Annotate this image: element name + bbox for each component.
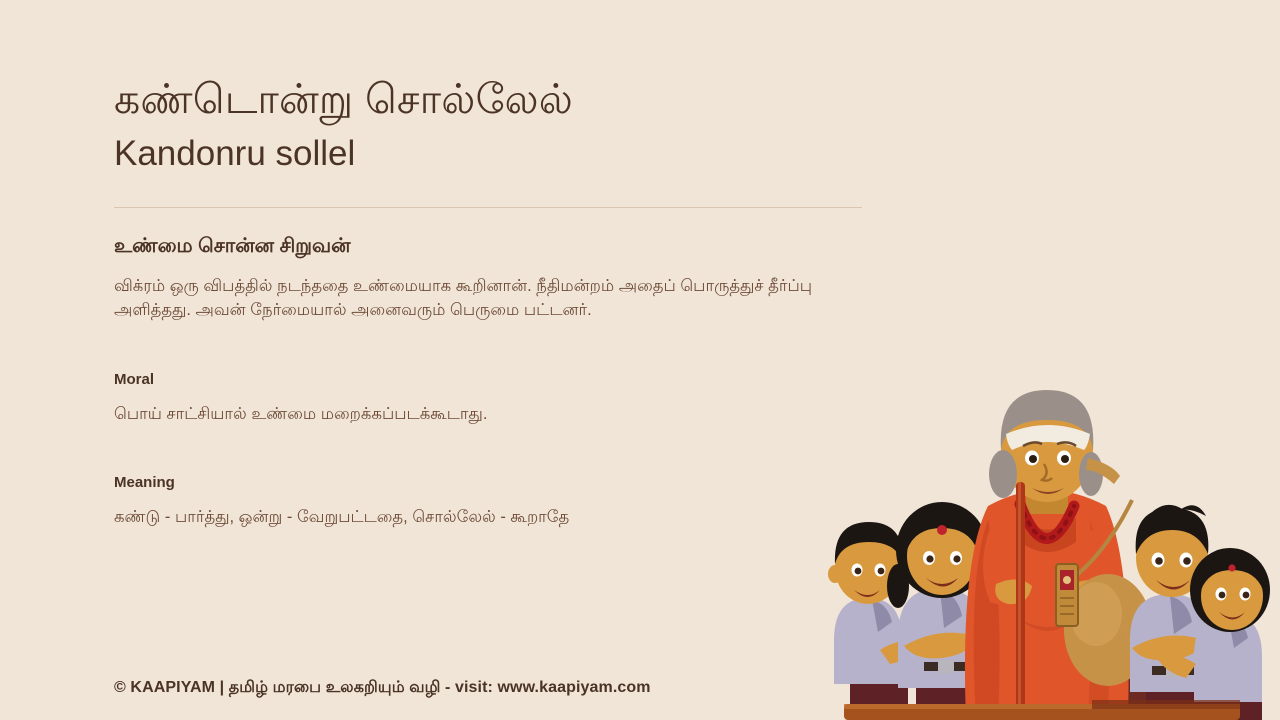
illustration-svg <box>820 378 1280 720</box>
moral-label: Moral <box>114 369 874 390</box>
auvaiyar-with-children-illustration <box>820 378 1280 720</box>
footer-credit: © KAAPIYAM | தமிழ் மரபை உலகறியும் வழி - … <box>114 678 651 698</box>
header-divider <box>114 207 862 208</box>
moral-section: Moral பொய் சாட்சியால் உண்மை மறைக்கப்படக்… <box>114 369 874 426</box>
bench-rail-shadow <box>1092 700 1240 709</box>
moral-text: பொய் சாட்சியால் உண்மை மறைக்கப்படக்கூடாது… <box>114 402 874 426</box>
text-column: கண்டொன்று சொல்லேல் Kandonru sollel உண்மை… <box>114 0 874 529</box>
saint-auvaiyar-figure <box>965 390 1152 720</box>
page-title-romanized: Kandonru sollel <box>114 131 874 177</box>
meaning-label: Meaning <box>114 472 874 493</box>
slide-root: கண்டொன்று சொல்லேல் Kandonru sollel உண்மை… <box>0 0 1280 720</box>
story-body-text: விக்ரம் ஒரு விபத்தில் நடந்ததை உண்மையாக க… <box>114 274 826 323</box>
meaning-section: Meaning கண்டு - பார்த்து, ஒன்று - வேறுபட… <box>114 472 874 529</box>
story-heading: உண்மை சொன்ன சிறுவன் <box>114 232 874 260</box>
meaning-text: கண்டு - பார்த்து, ஒன்று - வேறுபட்டதை, சொ… <box>114 505 874 529</box>
page-title-tamil: கண்டொன்று சொல்லேல் <box>114 74 874 125</box>
